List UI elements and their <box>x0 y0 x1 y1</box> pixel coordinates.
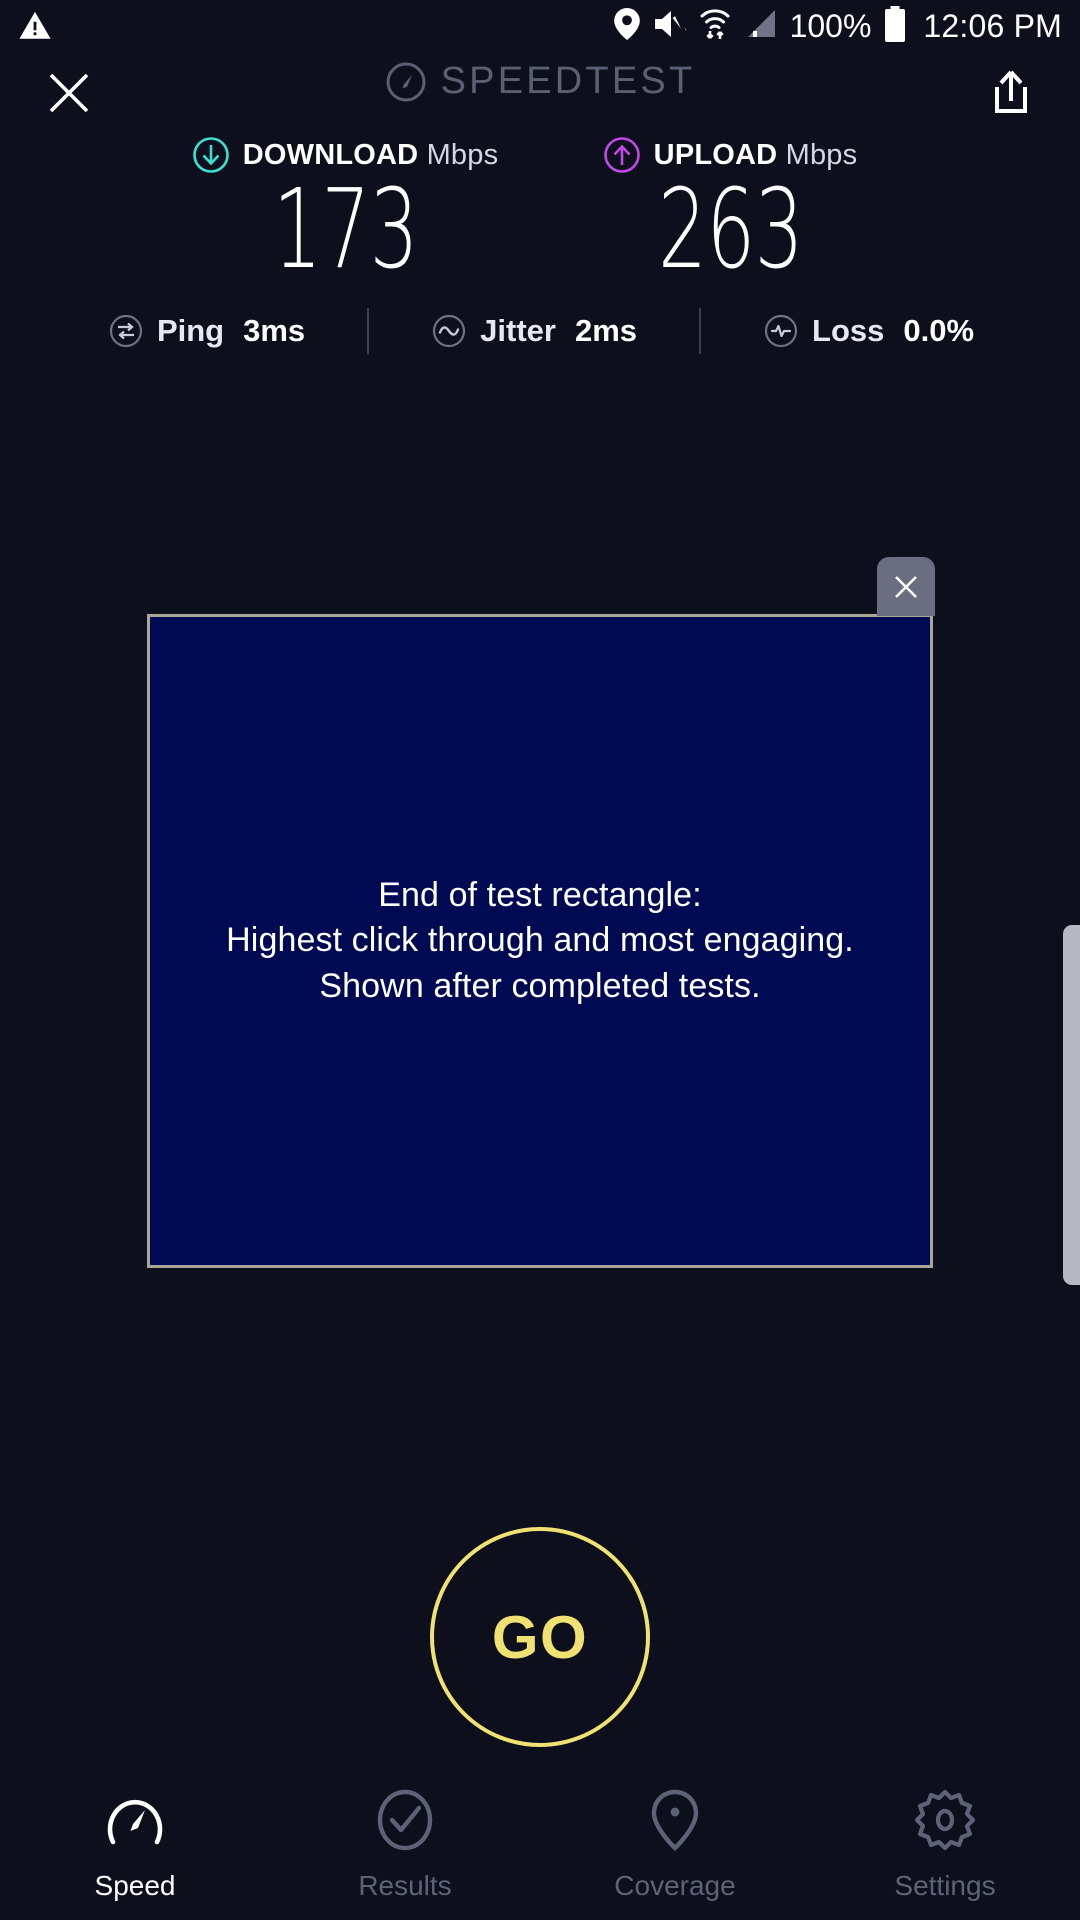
metric-loss-value: 0.0% <box>903 313 974 349</box>
gear-icon <box>909 1784 981 1856</box>
metric-loss-label: Loss <box>812 313 884 349</box>
metric-loss: Loss 0.0% <box>763 313 974 349</box>
nav-item-coverage[interactable]: Coverage <box>540 1784 810 1902</box>
vertical-scrollbar[interactable] <box>1063 925 1080 1285</box>
ad-line-3: Shown after completed tests. <box>226 964 854 1009</box>
connection-metrics: Ping 3ms Jitter 2ms Loss 0.0% <box>0 308 1080 354</box>
metric-jitter: Jitter 2ms <box>431 313 637 349</box>
nav-label-speed: Speed <box>95 1870 176 1902</box>
jitter-icon <box>431 313 467 349</box>
upload-value: 263 <box>658 172 803 288</box>
status-bar: 100% 12:06 PM <box>0 0 1080 52</box>
speedometer-icon <box>99 1784 171 1856</box>
battery-full-icon <box>884 6 906 47</box>
ad-line-2: Highest click through and most engaging. <box>226 918 854 963</box>
metric-ping: Ping 3ms <box>108 313 305 349</box>
test-results: DOWNLOAD Mbps 173 UPLOAD Mbps 263 <box>0 136 1080 354</box>
metric-divider <box>699 308 701 354</box>
metric-jitter-label: Jitter <box>480 313 556 349</box>
battery-percent-label: 100% <box>790 8 872 45</box>
go-button-label: GO <box>492 1603 588 1672</box>
ad-creative[interactable]: End of test rectangle: Highest click thr… <box>147 614 933 1268</box>
metric-ping-label: Ping <box>157 313 224 349</box>
nav-label-coverage: Coverage <box>614 1870 735 1902</box>
nav-item-settings[interactable]: Settings <box>810 1784 1080 1902</box>
download-arrow-icon <box>192 136 230 174</box>
ping-icon <box>108 313 144 349</box>
go-button[interactable]: GO <box>430 1527 650 1747</box>
cellular-signal-icon <box>743 8 777 45</box>
warning-triangle-icon <box>18 9 52 43</box>
metric-ping-value: 3ms <box>243 313 305 349</box>
status-bar-clock: 12:06 PM <box>923 8 1062 45</box>
bottom-navigation: Speed Results Coverage Settings <box>0 1770 1080 1920</box>
ad-line-1: End of test rectangle: <box>226 873 854 918</box>
speedtest-app-screen: 100% 12:06 PM SPEEDTEST <box>0 0 1080 1920</box>
map-pin-icon <box>639 1784 711 1856</box>
nav-label-settings: Settings <box>894 1870 995 1902</box>
nav-item-results[interactable]: Results <box>270 1784 540 1902</box>
status-bar-icons: 100% 12:06 PM <box>614 0 1062 52</box>
wifi-icon <box>700 7 730 46</box>
metric-divider <box>367 308 369 354</box>
nav-label-results: Results <box>358 1870 451 1902</box>
brand: SPEEDTEST <box>0 60 1080 103</box>
app-bar: SPEEDTEST <box>0 52 1080 130</box>
nav-item-speed[interactable]: Speed <box>0 1784 270 1902</box>
advertisement: End of test rectangle: Highest click thr… <box>147 614 933 1268</box>
location-pin-icon <box>614 8 640 45</box>
download-result: DOWNLOAD Mbps 173 <box>160 136 540 288</box>
loss-icon <box>763 313 799 349</box>
share-button[interactable] <box>980 62 1042 124</box>
volume-muted-icon <box>653 8 687 45</box>
share-icon <box>987 67 1035 119</box>
speed-values-row: DOWNLOAD Mbps 173 UPLOAD Mbps 263 <box>0 136 1080 288</box>
ad-text: End of test rectangle: Highest click thr… <box>226 873 854 1009</box>
ad-close-button[interactable] <box>877 557 935 616</box>
upload-result: UPLOAD Mbps 263 <box>540 136 920 288</box>
check-circle-icon <box>369 1784 441 1856</box>
download-value: 173 <box>273 172 418 288</box>
metric-jitter-value: 2ms <box>575 313 637 349</box>
speedometer-icon <box>385 61 427 103</box>
brand-title: SPEEDTEST <box>441 60 696 103</box>
upload-arrow-icon <box>603 136 641 174</box>
close-icon <box>891 572 921 602</box>
